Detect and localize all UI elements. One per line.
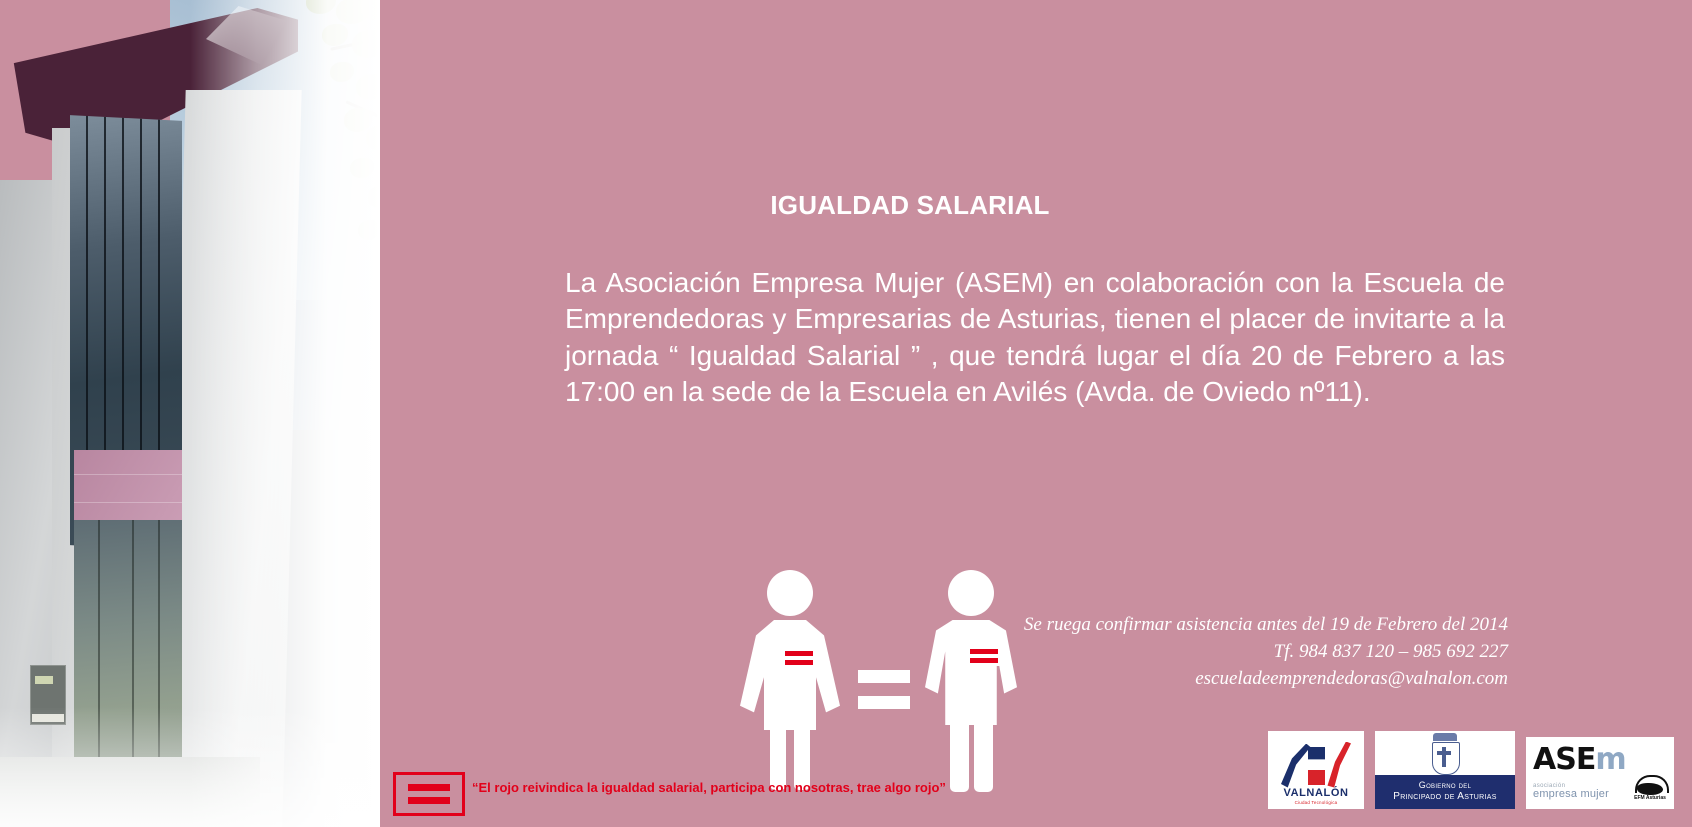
gobierno-line1: Gobierno del <box>1377 780 1513 790</box>
asem-wordmark-light: m <box>1595 742 1625 777</box>
asturias-crest-icon <box>1375 731 1515 775</box>
building-photo <box>0 0 380 827</box>
male-leg-right <box>974 722 993 792</box>
female-head <box>767 570 813 616</box>
valnalon-mark-icon <box>1281 742 1351 788</box>
asem-wordmark: ASEm <box>1533 746 1667 773</box>
logo-strip: VALNALÓN Ciudad Tecnológica Gobierno del… <box>1268 731 1674 809</box>
page-title: IGUALDAD SALARIAL <box>560 190 1260 221</box>
campaign-slogan: “El rojo reivindica la igualdad salarial… <box>472 780 946 795</box>
male-leg-left <box>950 722 969 792</box>
rsvp-block: Se ruega confirmar asistencia antes del … <box>988 612 1508 693</box>
logo-asem: ASEm asociación empresa mujer EFM Asturi… <box>1526 737 1674 809</box>
female-equals-badge <box>782 648 816 668</box>
photo-edge-fade <box>190 0 380 827</box>
efm-asturias-emblem-icon: EFM Asturias <box>1633 775 1667 801</box>
invitation-text: La Asociación Empresa Mujer (ASEM) en co… <box>565 265 1505 411</box>
rsvp-deadline: Se ruega confirmar asistencia antes del … <box>988 612 1508 639</box>
equals-sign-icon <box>858 670 910 722</box>
photo-bottom-fade <box>0 707 380 827</box>
rsvp-email: escueladeemprendedoras@valnalon.com <box>988 666 1508 693</box>
asem-tagline-bottom: empresa mujer <box>1533 789 1609 801</box>
valnalon-wordmark: VALNALÓN <box>1283 788 1348 799</box>
asem-tagline: asociación empresa mujer <box>1533 783 1609 801</box>
invitation-paragraph: La Asociación Empresa Mujer (ASEM) en co… <box>565 265 1505 411</box>
gobierno-wordmark: Gobierno del Principado de Asturias <box>1375 775 1515 809</box>
efm-emblem-caption: EFM Asturias <box>1633 795 1667 801</box>
asem-wordmark-dark: ASE <box>1533 742 1595 777</box>
female-body <box>740 620 840 730</box>
male-body <box>925 620 1017 725</box>
red-equals-badge-icon <box>393 772 465 816</box>
logo-gobierno-principado-asturias: Gobierno del Principado de Asturias <box>1375 731 1515 809</box>
valnalon-subtitle: Ciudad Tecnológica <box>1295 801 1338 806</box>
equality-pictogram <box>740 570 1020 770</box>
gobierno-line2: Principado de Asturias <box>1377 791 1513 803</box>
male-head <box>948 570 994 616</box>
logo-valnalon: VALNALÓN Ciudad Tecnológica <box>1268 731 1364 809</box>
male-equals-badge <box>967 646 1001 666</box>
rsvp-phone: Tf. 984 837 120 – 985 692 227 <box>988 639 1508 666</box>
slide-canvas: IGUALDAD SALARIAL La Asociación Empresa … <box>0 0 1692 827</box>
